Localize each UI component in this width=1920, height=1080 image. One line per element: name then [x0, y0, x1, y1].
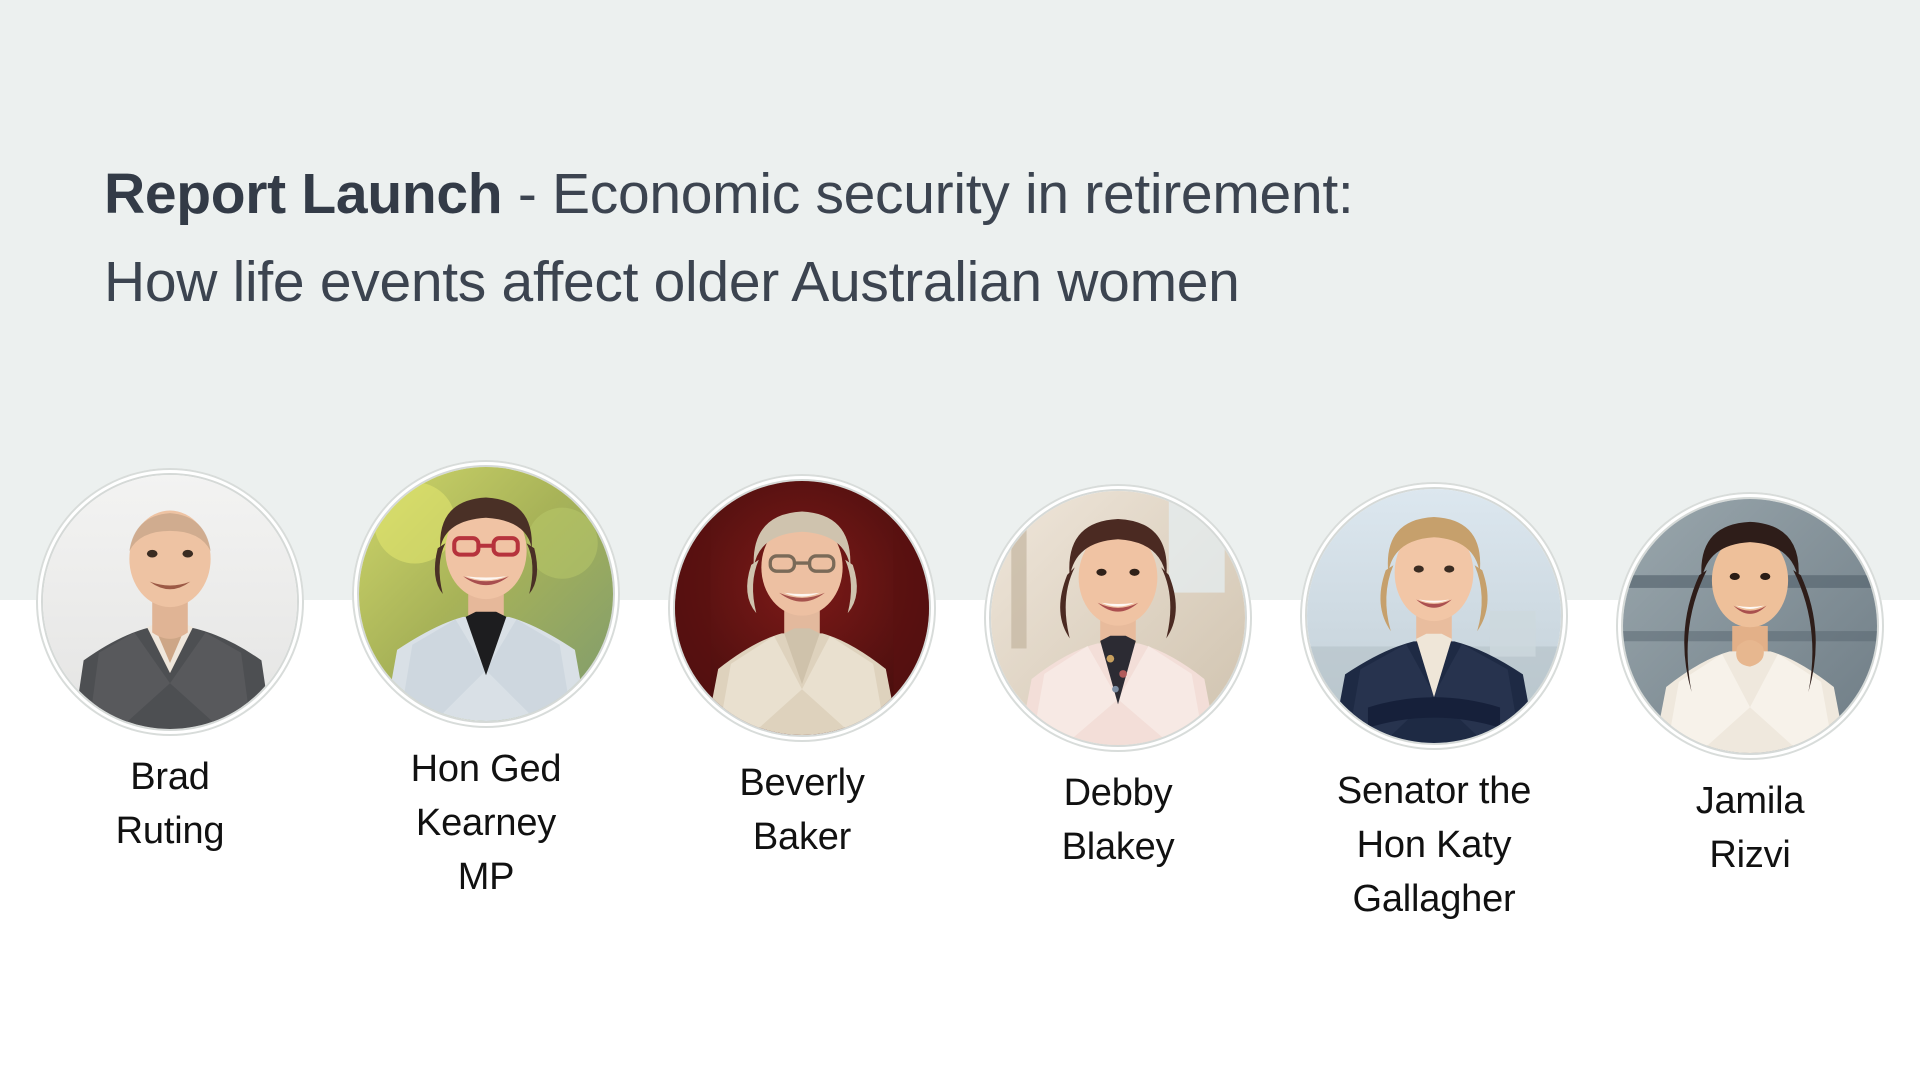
avatar: [668, 474, 936, 742]
panelist-name-line-1: Beverly: [739, 756, 864, 810]
avatar-image-hon-ged-kearney-mp: [357, 465, 615, 723]
panelist-name: Brad Ruting: [116, 750, 225, 858]
panelist-card[interactable]: Jamila Rizvi: [1605, 492, 1895, 882]
page-title-line-1: Report Launch - Economic security in ret…: [104, 150, 1704, 238]
avatar-image-debby-blakey: [989, 489, 1247, 747]
panelist-name-line-1: Jamila: [1696, 774, 1805, 828]
panelist-name: Senator the Hon Katy Gallagher: [1337, 764, 1531, 926]
avatar-image-beverly-baker: [673, 479, 931, 737]
panelist-card[interactable]: Brad Ruting: [25, 468, 315, 858]
panelist-name-line-1: Senator the: [1337, 764, 1531, 818]
panelist-name: Beverly Baker: [739, 756, 864, 864]
panelist-card[interactable]: Senator the Hon Katy Gallagher: [1289, 482, 1579, 926]
panelist-name: Jamila Rizvi: [1696, 774, 1805, 882]
panelist-name: Debby Blakey: [1062, 766, 1175, 874]
avatar-image-brad-ruting: [41, 473, 299, 731]
avatar: [1300, 482, 1568, 750]
avatar: [1616, 492, 1884, 760]
page-title-line-2: How life events affect older Australian …: [104, 238, 1704, 326]
panelist-card[interactable]: Debby Blakey: [973, 484, 1263, 874]
panelist-name-line-2: Blakey: [1062, 820, 1175, 874]
page-title: Report Launch - Economic security in ret…: [104, 150, 1704, 326]
avatar: [984, 484, 1252, 752]
panelist-name-line-2: Ruting: [116, 804, 225, 858]
panelist-name-line-2: Baker: [739, 810, 864, 864]
avatar-image-senator-the-hon-katy-gallagher: [1305, 487, 1563, 745]
page-title-emphasis: Report Launch: [104, 162, 502, 226]
panelist-name-line-1: Hon Ged: [411, 742, 562, 796]
panelist-row: Brad Ruting: [0, 470, 1920, 926]
panelist-name-line-3: MP: [411, 850, 562, 904]
avatar: [36, 468, 304, 736]
panelist-name-line-2: Rizvi: [1696, 828, 1805, 882]
avatar-image-jamila-rizvi: [1621, 497, 1879, 755]
panelist-card[interactable]: Hon Ged Kearney MP: [341, 460, 631, 904]
panelist-name-line-1: Debby: [1062, 766, 1175, 820]
panelist-name-line-2: Hon Katy: [1337, 818, 1531, 872]
panelist-name-line-1: Brad: [116, 750, 225, 804]
panelist-card[interactable]: Beverly Baker: [657, 474, 947, 864]
avatar: [352, 460, 620, 728]
panelist-name-line-3: Gallagher: [1337, 872, 1531, 926]
slide-canvas: Report Launch - Economic security in ret…: [0, 0, 1920, 1080]
panelist-name: Hon Ged Kearney MP: [411, 742, 562, 904]
panelist-name-line-2: Kearney: [411, 796, 562, 850]
page-title-separator: -: [502, 162, 552, 226]
page-title-line-1-rest: Economic security in retirement:: [552, 162, 1353, 226]
